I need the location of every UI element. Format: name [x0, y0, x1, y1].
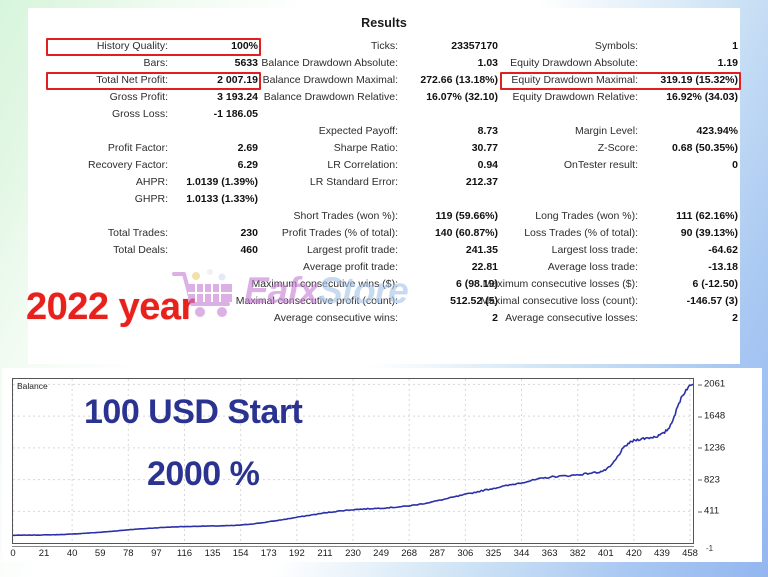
- stat-label: Average profit trade:: [303, 259, 402, 276]
- x-axis-tick: 306: [457, 548, 473, 559]
- stats-column-left: History Quality:100%Bars:5633Total Net P…: [50, 38, 258, 259]
- stat-row: OnTester result:0: [504, 157, 738, 174]
- x-axis-tick: 0: [10, 548, 15, 559]
- stat-row: Maximal consecutive loss (count):-146.57…: [504, 293, 738, 310]
- stat-label: Long Trades (won %):: [535, 208, 642, 225]
- x-axis-tick: 249: [373, 548, 389, 559]
- stat-value: 1.0139 (1.39%): [172, 174, 258, 191]
- x-axis-tick: 458: [682, 548, 698, 559]
- stat-value: 2: [642, 310, 738, 327]
- stat-row: Margin Level:423.94%: [504, 123, 738, 140]
- stat-label: Expected Payoff:: [319, 123, 402, 140]
- stat-label: OnTester result:: [564, 157, 642, 174]
- stat-label: Ticks:: [371, 38, 402, 55]
- stat-value: -1 186.05: [172, 106, 258, 123]
- x-axis-tick: 287: [429, 548, 445, 559]
- x-axis-tick: 173: [261, 548, 277, 559]
- stat-label: Largest profit trade:: [307, 242, 402, 259]
- stat-value: 6 (-12.50): [642, 276, 738, 293]
- stat-value: -64.62: [642, 242, 738, 259]
- x-axis-tick: 40: [67, 548, 78, 559]
- stat-row: AHPR:1.0139 (1.39%): [50, 174, 258, 191]
- stat-row: History Quality:100%: [50, 38, 258, 55]
- stat-value: 0: [642, 157, 738, 174]
- stat-row-spacer: [504, 106, 738, 123]
- y-axis-tick: 1236: [704, 442, 725, 453]
- stat-row: Profit Trades (% of total):140 (60.87%): [260, 225, 498, 242]
- y-axis-tick: 2061: [704, 379, 725, 390]
- stat-row: Maximum consecutive wins ($):6 (98.19): [260, 276, 498, 293]
- stat-value: 319.19 (15.32%): [642, 72, 738, 89]
- stat-row: Average consecutive losses:2: [504, 310, 738, 327]
- stat-row: Recovery Factor:6.29: [50, 157, 258, 174]
- stat-label: Total Trades:: [108, 225, 172, 242]
- stat-label: Gross Loss:: [112, 106, 172, 123]
- annotation-start-balance: 100 USD Start: [84, 393, 302, 432]
- x-axis-tick: 420: [626, 548, 642, 559]
- stat-row: Profit Factor:2.69: [50, 140, 258, 157]
- stat-row: Loss Trades (% of total):90 (39.13%): [504, 225, 738, 242]
- chart-x-axis: 0214059789711613515417319221123024926828…: [12, 546, 702, 562]
- stat-label: Maximum consecutive losses ($):: [483, 276, 642, 293]
- stats-column-right: Symbols:1Equity Drawdown Absolute:1.19Eq…: [504, 38, 738, 327]
- stat-row: Gross Loss:-1 186.05: [50, 106, 258, 123]
- stat-value: 16.92% (34.03): [642, 89, 738, 106]
- annotation-percent-gain: 2000 %: [147, 455, 259, 494]
- stat-label: Balance Drawdown Absolute:: [261, 55, 402, 72]
- stat-label: Z-Score:: [598, 140, 642, 157]
- stat-row: Balance Drawdown Absolute:1.03: [260, 55, 498, 72]
- stat-label: Recovery Factor:: [88, 157, 172, 174]
- x-axis-tick: 116: [177, 548, 192, 559]
- stat-row: Largest loss trade:-64.62: [504, 242, 738, 259]
- stats-column-middle: Ticks:23357170Balance Drawdown Absolute:…: [260, 38, 498, 327]
- x-axis-tick: 382: [570, 548, 586, 559]
- stat-value: 119 (59.66%): [402, 208, 498, 225]
- stat-value: 22.81: [402, 259, 498, 276]
- stat-label: History Quality:: [97, 38, 172, 55]
- stat-label: Average consecutive wins:: [274, 310, 402, 327]
- stat-value: -13.18: [642, 259, 738, 276]
- stat-row: Average profit trade:22.81: [260, 259, 498, 276]
- stat-value: 1.03: [402, 55, 498, 72]
- stat-row: Largest profit trade:241.35: [260, 242, 498, 259]
- stat-row: Symbols:1: [504, 38, 738, 55]
- stat-row: Ticks:23357170: [260, 38, 498, 55]
- stat-value: 8.73: [402, 123, 498, 140]
- stat-row: LR Correlation:0.94: [260, 157, 498, 174]
- stat-label: LR Correlation:: [327, 157, 402, 174]
- stat-row: LR Standard Error:212.37: [260, 174, 498, 191]
- stat-label: LR Standard Error:: [310, 174, 402, 191]
- stat-label: Symbols:: [595, 38, 642, 55]
- stat-value: -146.57 (3): [642, 293, 738, 310]
- stat-row-spacer: [260, 191, 498, 208]
- stat-row: Total Net Profit:2 007.19: [50, 72, 258, 89]
- chart-corner-mark: -1: [706, 544, 713, 553]
- stat-value: 230: [172, 225, 258, 242]
- stat-row: Sharpe Ratio:30.77: [260, 140, 498, 157]
- stat-label: GHPR:: [135, 191, 172, 208]
- y-axis-tick: 1648: [704, 411, 725, 422]
- stat-label: Profit Trades (% of total):: [282, 225, 402, 242]
- stat-value: 100%: [172, 38, 258, 55]
- x-axis-tick: 363: [542, 548, 558, 559]
- stat-label: Sharpe Ratio:: [334, 140, 402, 157]
- stat-value: 2: [402, 310, 498, 327]
- stat-value: 111 (62.16%): [642, 208, 738, 225]
- x-axis-tick: 344: [514, 548, 530, 559]
- stat-row: Balance Drawdown Relative:16.07% (32.10): [260, 89, 498, 106]
- stat-value: 2.69: [172, 140, 258, 157]
- stat-row: Average consecutive wins:2: [260, 310, 498, 327]
- stat-value: 23357170: [402, 38, 498, 55]
- x-axis-tick: 192: [289, 548, 305, 559]
- stat-value: 30.77: [402, 140, 498, 157]
- stat-row: Total Trades:230: [50, 225, 258, 242]
- stat-value: 1.19: [642, 55, 738, 72]
- stat-row-spacer: [260, 106, 498, 123]
- stat-label: Margin Level:: [575, 123, 642, 140]
- stat-row: Maximal consecutive profit (count):512.5…: [260, 293, 498, 310]
- stat-value: 6.29: [172, 157, 258, 174]
- stat-label: Maximum consecutive wins ($):: [252, 276, 402, 293]
- stat-value: 0.68 (50.35%): [642, 140, 738, 157]
- x-axis-tick: 401: [598, 548, 614, 559]
- x-axis-line: [12, 546, 694, 547]
- x-axis-tick: 154: [233, 548, 249, 559]
- stat-row: Equity Drawdown Absolute:1.19: [504, 55, 738, 72]
- stat-value: 1: [642, 38, 738, 55]
- stat-value: 1.0133 (1.33%): [172, 191, 258, 208]
- stat-value: 5633: [172, 55, 258, 72]
- stat-label: Total Net Profit:: [96, 72, 172, 89]
- x-axis-tick: 97: [151, 548, 162, 559]
- stat-value: 16.07% (32.10): [402, 89, 498, 106]
- annotation-year: 2022 year: [26, 286, 195, 329]
- stat-label: Average consecutive losses:: [505, 310, 642, 327]
- stat-label: Average loss trade:: [548, 259, 642, 276]
- chart-series-label: Balance: [17, 381, 48, 391]
- stat-row: Z-Score:0.68 (50.35%): [504, 140, 738, 157]
- stat-value: 140 (60.87%): [402, 225, 498, 242]
- stat-row: Equity Drawdown Relative:16.92% (34.03): [504, 89, 738, 106]
- stat-row: Balance Drawdown Maximal:272.66 (13.18%): [260, 72, 498, 89]
- stat-row: Total Deals:460: [50, 242, 258, 259]
- x-axis-tick: 59: [95, 548, 106, 559]
- stat-row-spacer: [50, 208, 258, 225]
- stat-row-spacer: [504, 191, 738, 208]
- page-title: Results: [28, 16, 740, 30]
- stat-label: Short Trades (won %):: [294, 208, 402, 225]
- stat-row: Gross Profit:3 193.24: [50, 89, 258, 106]
- stat-label: Loss Trades (% of total):: [524, 225, 642, 242]
- stat-row-spacer: [504, 174, 738, 191]
- y-axis-tick: 411: [704, 506, 719, 517]
- x-axis-tick: 439: [654, 548, 670, 559]
- x-axis-tick: 211: [317, 548, 332, 559]
- x-axis-tick: 268: [401, 548, 417, 559]
- chart-y-axis: 206116481236823411: [698, 378, 760, 544]
- stat-row: Short Trades (won %):119 (59.66%): [260, 208, 498, 225]
- x-axis-tick: 78: [123, 548, 134, 559]
- stat-value: 423.94%: [642, 123, 738, 140]
- stat-label: Maximal consecutive loss (count):: [480, 293, 642, 310]
- stat-row: Expected Payoff:8.73: [260, 123, 498, 140]
- x-axis-tick: 230: [345, 548, 361, 559]
- stat-value: 241.35: [402, 242, 498, 259]
- stat-label: Equity Drawdown Absolute:: [510, 55, 642, 72]
- stat-row: Maximum consecutive losses ($):6 (-12.50…: [504, 276, 738, 293]
- x-axis-tick: 325: [485, 548, 501, 559]
- stat-label: Profit Factor:: [108, 140, 172, 157]
- stat-row-spacer: [50, 123, 258, 140]
- x-axis-tick: 135: [205, 548, 221, 559]
- stat-value: 272.66 (13.18%): [402, 72, 498, 89]
- y-axis-tick: 823: [704, 474, 720, 485]
- stat-label: Gross Profit:: [110, 89, 172, 106]
- stat-label: AHPR:: [136, 174, 172, 191]
- stat-label: Balance Drawdown Relative:: [264, 89, 402, 106]
- stat-row: GHPR:1.0133 (1.33%): [50, 191, 258, 208]
- stat-label: Maximal consecutive profit (count):: [236, 293, 402, 310]
- stat-value: 3 193.24: [172, 89, 258, 106]
- stat-value: 90 (39.13%): [642, 225, 738, 242]
- stat-row: Bars:5633: [50, 55, 258, 72]
- stat-row: Average loss trade:-13.18: [504, 259, 738, 276]
- stat-label: Largest loss trade:: [552, 242, 642, 259]
- stat-value: 212.37: [402, 174, 498, 191]
- stat-label: Balance Drawdown Maximal:: [263, 72, 402, 89]
- stat-label: Total Deals:: [113, 242, 172, 259]
- stat-value: 460: [172, 242, 258, 259]
- stat-value: 2 007.19: [172, 72, 258, 89]
- stat-row: Equity Drawdown Maximal:319.19 (15.32%): [504, 72, 738, 89]
- stat-label: Equity Drawdown Relative:: [513, 89, 642, 106]
- stat-label: Equity Drawdown Maximal:: [511, 72, 642, 89]
- stat-value: 0.94: [402, 157, 498, 174]
- x-axis-tick: 21: [39, 548, 50, 559]
- stat-label: Bars:: [143, 55, 172, 72]
- stat-row: Long Trades (won %):111 (62.16%): [504, 208, 738, 225]
